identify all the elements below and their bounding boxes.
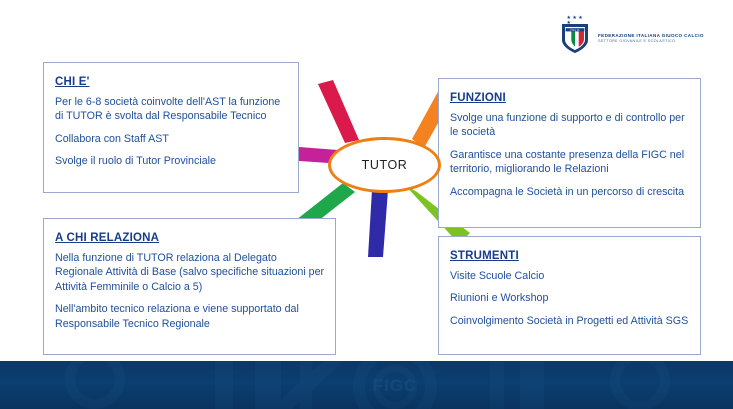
- box-chi-e-paragraph-1: Per le 6-8 società coinvolte dell'AST la…: [55, 95, 288, 124]
- figc-logo-subtitle: SETTORE GIOVANILE E SCOLASTICO: [598, 39, 704, 43]
- box-a-chi-relaziona-paragraph-1: Nella funzione di TUTOR relaziona al Del…: [55, 251, 325, 294]
- box-a-chi-relaziona-paragraph-2: Nell'ambito tecnico relaziona e viene su…: [55, 302, 325, 331]
- ray-navy: [368, 190, 388, 257]
- slide-canvas: ★ ★ ★ ★ ITALIA FEDERAZIONE ITALIANA GIUO…: [0, 0, 733, 409]
- figc-logo-title: FEDERAZIONE ITALIANA GIUOCO CALCIO: [598, 33, 704, 38]
- box-chi-e-paragraph-2: Collabora con Staff AST: [55, 132, 288, 146]
- svg-text:FIGC: FIGC: [373, 376, 418, 395]
- box-chi-e[interactable]: CHI E' Per le 6-8 società coinvolte dell…: [43, 62, 299, 193]
- banner-watermark-graphic: FIGC: [0, 361, 733, 409]
- svg-text:ITALIA: ITALIA: [570, 28, 580, 32]
- box-funzioni-paragraph-2: Garantisce una costante presenza della F…: [450, 148, 690, 177]
- box-strumenti-title: STRUMENTI: [450, 250, 519, 262]
- figc-watermark-banner: FIGC: [0, 361, 733, 409]
- box-funzioni-title: FUNZIONI: [450, 92, 506, 104]
- box-strumenti-paragraph-2: Riunioni e Workshop: [450, 291, 690, 305]
- box-funzioni-paragraph-3: Accompagna le Società in un percorso di …: [450, 185, 690, 199]
- box-chi-e-title: CHI E': [55, 76, 90, 88]
- tutor-center-node[interactable]: TUTOR: [328, 137, 441, 193]
- figc-logo-text: FEDERAZIONE ITALIANA GIUOCO CALCIO SETTO…: [598, 29, 704, 44]
- box-strumenti[interactable]: STRUMENTI Visite Scuole Calcio Riunioni …: [438, 236, 701, 355]
- ray-crimson: [318, 80, 359, 143]
- four-stars-icon: ★ ★ ★ ★: [567, 16, 584, 26]
- figc-logo: ★ ★ ★ ★ ITALIA FEDERAZIONE ITALIANA GIUO…: [558, 16, 704, 56]
- box-a-chi-relaziona[interactable]: A CHI RELAZIONA Nella funzione di TUTOR …: [43, 218, 336, 355]
- box-strumenti-paragraph-1: Visite Scuole Calcio: [450, 269, 690, 283]
- box-strumenti-paragraph-3: Coinvolgimento Società in Progetti ed At…: [450, 314, 690, 328]
- box-funzioni-paragraph-1: Svolge una funzione di supporto e di con…: [450, 111, 690, 140]
- figc-shield-icon: ★ ★ ★ ★ ITALIA: [558, 16, 592, 56]
- box-funzioni[interactable]: FUNZIONI Svolge una funzione di supporto…: [438, 78, 701, 228]
- tutor-center-label: TUTOR: [362, 158, 408, 172]
- box-chi-e-paragraph-3: Svolge il ruolo di Tutor Provinciale: [55, 154, 288, 168]
- box-a-chi-relaziona-title: A CHI RELAZIONA: [55, 232, 159, 244]
